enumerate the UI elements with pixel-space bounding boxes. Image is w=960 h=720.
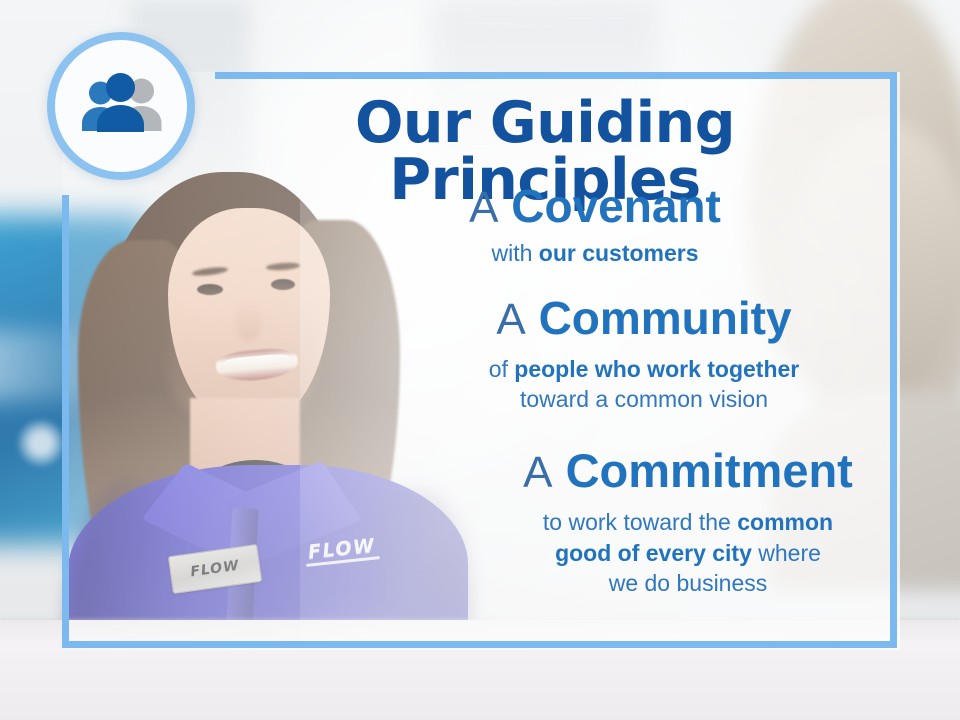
principle-covenant-subtext-line: with our customers [310,238,880,268]
principle-community-title: A Community [408,294,880,344]
principle-community-subtext-line: of people who work together [408,354,880,384]
name-badge-label: FLOW [189,558,240,581]
white-desk-surface [0,620,960,720]
principle-community-subtext: of people who work togethertoward a comm… [408,354,880,415]
principle-covenant-subtext: with our customers [310,238,880,268]
people-group-icon [75,73,167,139]
principle-covenant-article: A [469,183,498,232]
people-group-badge [47,32,195,180]
principle-commitment-subtext: to work toward the commongood of every c… [496,507,880,598]
principle-community: A Community of people who work togethert… [408,294,880,414]
principle-community-word: Community [539,292,792,344]
banner-image: FLOW FLOW [0,0,960,720]
principle-commitment-subtext-line: good of every city where [496,538,880,568]
principle-commitment-subtext-line: to work toward the common [496,507,880,537]
principle-covenant: A Covenant with our customers [310,182,880,268]
principle-covenant-title: A Covenant [310,182,880,232]
principle-community-article: A [496,295,525,344]
advisor-eye-right [271,279,295,290]
principle-commitment-article: A [523,448,552,497]
principle-commitment: A Commitment to work toward the commongo… [496,446,880,598]
advisor-eye-left [197,284,223,295]
principle-commitment-title: A Commitment [496,446,880,497]
principle-covenant-word: Covenant [511,180,721,232]
principle-commitment-word: Commitment [566,444,853,497]
advisor-nose [236,300,262,342]
principle-commitment-subtext-line: we do business [496,568,880,598]
principles-list: A Covenant with our customers A Communit… [300,182,880,604]
principle-community-subtext-line: toward a common vision [408,384,880,414]
